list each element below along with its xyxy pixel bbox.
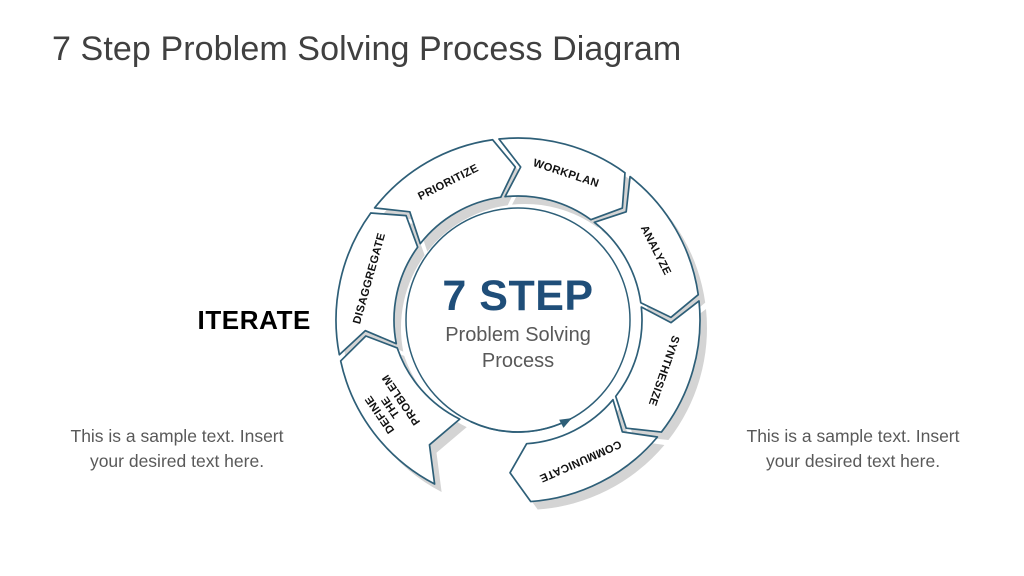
- hub-circle-layer: [406, 208, 630, 432]
- iterate-arrowhead-icon: [559, 418, 572, 428]
- sample-note-right: This is a sample text. Insert your desir…: [738, 424, 968, 474]
- sample-note-left: This is a sample text. Insert your desir…: [62, 424, 292, 474]
- hub-title: 7 STEP: [442, 272, 593, 320]
- hub-subtitle-line-2: Process: [482, 350, 554, 372]
- hub-circle: [406, 208, 630, 432]
- iterate-label: ITERATE: [198, 305, 312, 335]
- hub-subtitle-line-1: Problem Solving: [445, 324, 591, 346]
- seven-step-cycle-diagram: DEFINETHEPROBLEMDISAGGREGATEPRIORITIZEWO…: [0, 0, 1024, 576]
